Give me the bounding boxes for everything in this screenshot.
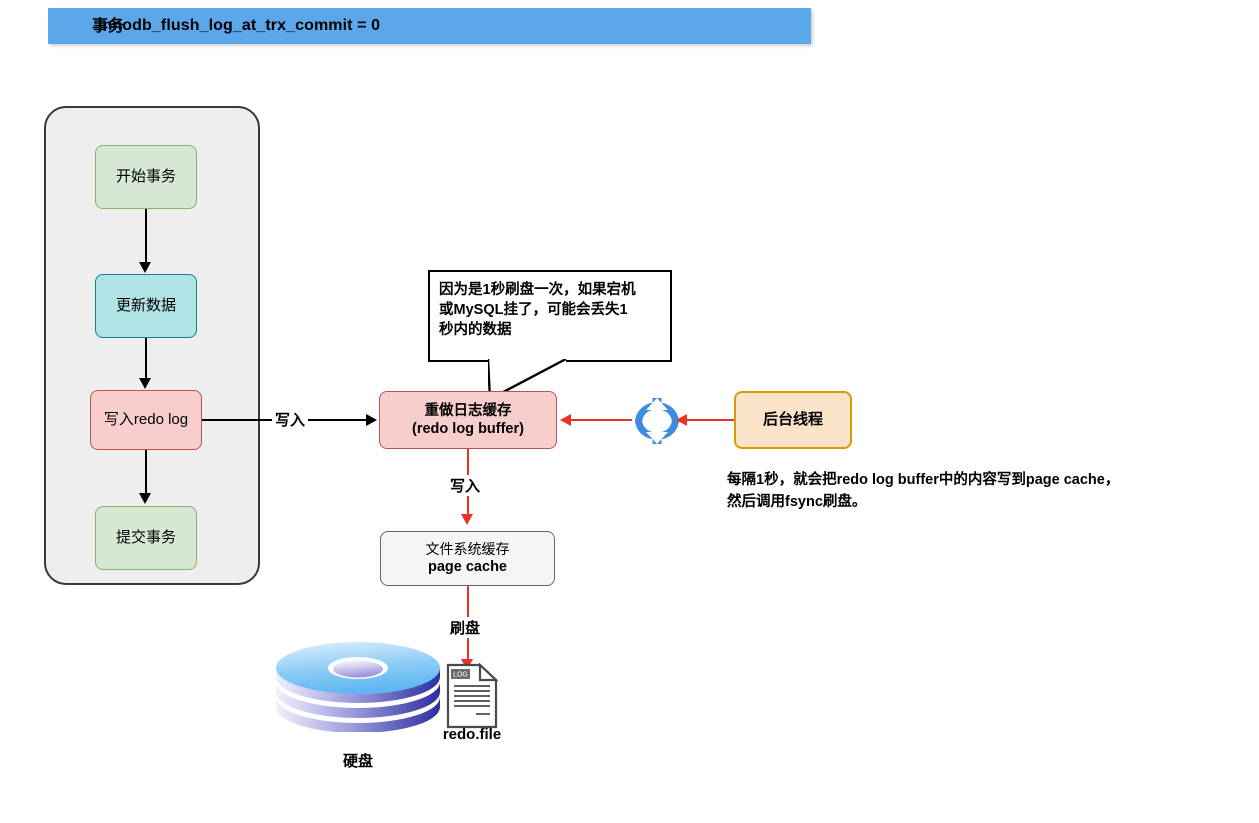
arrow-bgthread-to-refresh-line (686, 419, 734, 421)
node-redo-log-buffer-line1: 重做日志缓存 (425, 402, 512, 420)
node-background-thread-label: 后台线程 (763, 411, 823, 430)
callout-line-2: 或MySQL挂了，可能会丢失1 (439, 300, 661, 320)
arrow-refresh-to-buffer-head (560, 414, 571, 426)
transaction-title: 事务 (0, 12, 216, 36)
arrow-refresh-to-buffer-line (570, 419, 632, 421)
callout-line-3: 秒内的数据 (439, 320, 661, 340)
callout-box: 因为是1秒刷盘一次，如果宕机 或MySQL挂了，可能会丢失1 秒内的数据 (428, 270, 672, 362)
edge-label-write-to-page-cache: 写入 (447, 475, 483, 496)
node-redo-log-buffer[interactable]: 重做日志缓存 (redo log buffer) (379, 391, 557, 449)
node-page-cache-line2: page cache (428, 558, 507, 576)
node-page-cache[interactable]: 文件系统缓存 page cache (380, 531, 555, 586)
hard-disk-icon (272, 640, 444, 732)
node-write-redo-log[interactable]: 写入redo log (90, 390, 202, 450)
edge-label-flush-to-disk: 刷盘 (447, 617, 483, 638)
svg-text:LOG: LOG (453, 672, 468, 679)
arrow-start-to-update-head (139, 262, 151, 273)
redo-log-file-icon: LOG (446, 663, 498, 729)
background-thread-note-line-1: 每隔1秒，就会把redo log buffer中的内容写到page cache， (727, 470, 1227, 492)
arrow-writeredo-to-commit-head (139, 493, 151, 504)
diagram-canvas: innodb_flush_log_at_trx_commit = 0 事务 开始… (0, 0, 1259, 823)
background-thread-note-line-2: 然后调用fsync刷盘。 (727, 492, 1227, 514)
arrow-start-to-update-line (145, 209, 147, 263)
node-update-data-label: 更新数据 (116, 297, 176, 316)
redo-log-file-label: redo.file (420, 726, 524, 743)
arrow-writeredo-to-commit-line (145, 450, 147, 494)
arrow-bgthread-to-refresh-head (676, 414, 687, 426)
node-start-transaction-label: 开始事务 (116, 168, 176, 187)
node-start-transaction[interactable]: 开始事务 (95, 145, 197, 209)
node-page-cache-line1: 文件系统缓存 (426, 541, 510, 559)
arrow-update-to-writeredo-line (145, 338, 147, 379)
arrow-redo-to-buffer-head (366, 414, 377, 426)
node-update-data[interactable]: 更新数据 (95, 274, 197, 338)
node-redo-log-buffer-line2: (redo log buffer) (412, 420, 524, 438)
node-write-redo-log-label: 写入redo log (104, 411, 188, 430)
node-commit-transaction[interactable]: 提交事务 (95, 506, 197, 570)
background-thread-note: 每隔1秒，就会把redo log buffer中的内容写到page cache，… (727, 470, 1227, 514)
edge-label-write-to-buffer: 写入 (272, 409, 308, 430)
node-commit-transaction-label: 提交事务 (116, 529, 176, 548)
node-background-thread[interactable]: 后台线程 (734, 391, 852, 449)
callout-line-1: 因为是1秒刷盘一次，如果宕机 (439, 280, 661, 300)
arrow-update-to-writeredo-head (139, 378, 151, 389)
arrow-buffer-to-pagecache-head (461, 514, 473, 525)
hard-disk-label: 硬盘 (272, 750, 444, 771)
